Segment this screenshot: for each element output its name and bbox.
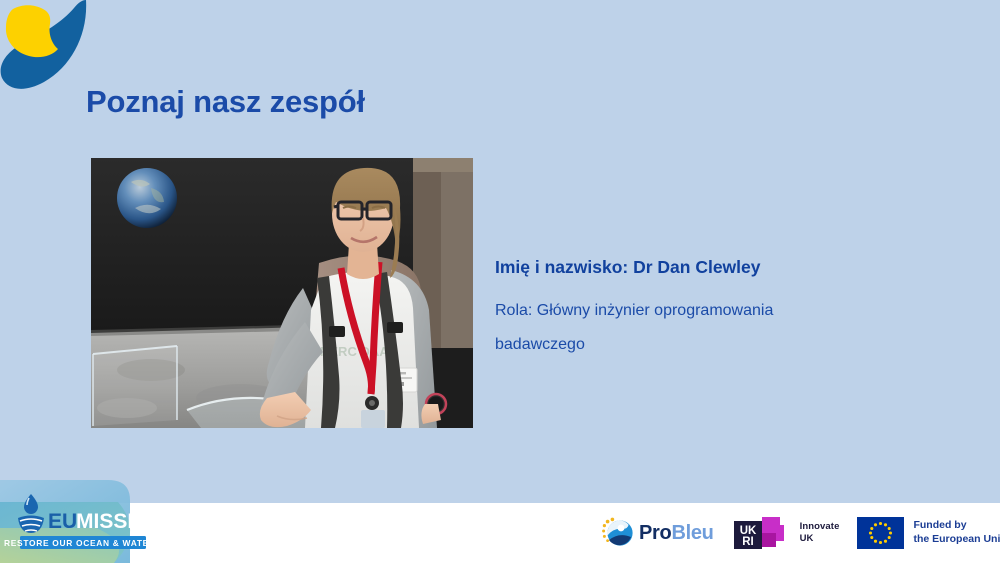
probleu-text-bleu: Bleu [671, 522, 713, 544]
page-title: Poznaj nasz zespół [86, 84, 365, 120]
slide-canvas: Poznaj nasz zespół [0, 0, 1000, 563]
ukri-innovate-logo[interactable]: UK RI Innovate UK [732, 515, 840, 551]
svg-text:EU: EU [48, 510, 77, 533]
probleu-wordmark: ProBleu [639, 522, 714, 545]
svg-text:RI: RI [742, 536, 754, 548]
eu-funded-line-2: the European Union [913, 533, 1000, 547]
innovate-line-2: UK [800, 533, 840, 545]
person-name: Imię i nazwisko: Dr Dan Clewley [495, 258, 915, 277]
eu-funded-line-1: Funded by [913, 519, 1000, 533]
svg-text:RESTORE OUR OCEAN & WATERS: RESTORE OUR OCEAN & WATERS [4, 538, 162, 548]
partner-logos: ProBleu UK RI Innovate UK [600, 503, 1000, 563]
probleu-swirl-icon [600, 516, 634, 550]
person-role: Rola: Główny inżynier oprogramowania bad… [495, 294, 855, 361]
person-details: Imię i nazwisko: Dr Dan Clewley Rola: Gł… [495, 258, 915, 361]
probleu-text-pro: Pro [639, 522, 671, 544]
leaf-moon-logo [0, 0, 98, 100]
eu-missions-logo: EU MISSIONS RESTORE OUR OCEAN & WATERS [0, 478, 200, 563]
eu-flag-icon [857, 517, 904, 549]
eu-funded-label: Funded by the European Union [913, 519, 1000, 546]
leaf-moon-icon [0, 0, 98, 100]
innovate-uk-label: Innovate UK [800, 521, 840, 545]
probleu-logo[interactable]: ProBleu [600, 516, 714, 550]
eu-missions-icon: EU MISSIONS RESTORE OUR OCEAN & WATERS [0, 478, 200, 563]
innovate-line-1: Innovate [800, 521, 840, 533]
ukri-mark-icon: UK RI [732, 515, 794, 551]
svg-text:MISSIONS: MISSIONS [76, 510, 179, 533]
eu-funded-logo[interactable]: Funded by the European Union [857, 517, 1000, 549]
photo-illustration: NERC DAAC [91, 158, 473, 428]
team-member-photo: NERC DAAC [91, 158, 473, 428]
